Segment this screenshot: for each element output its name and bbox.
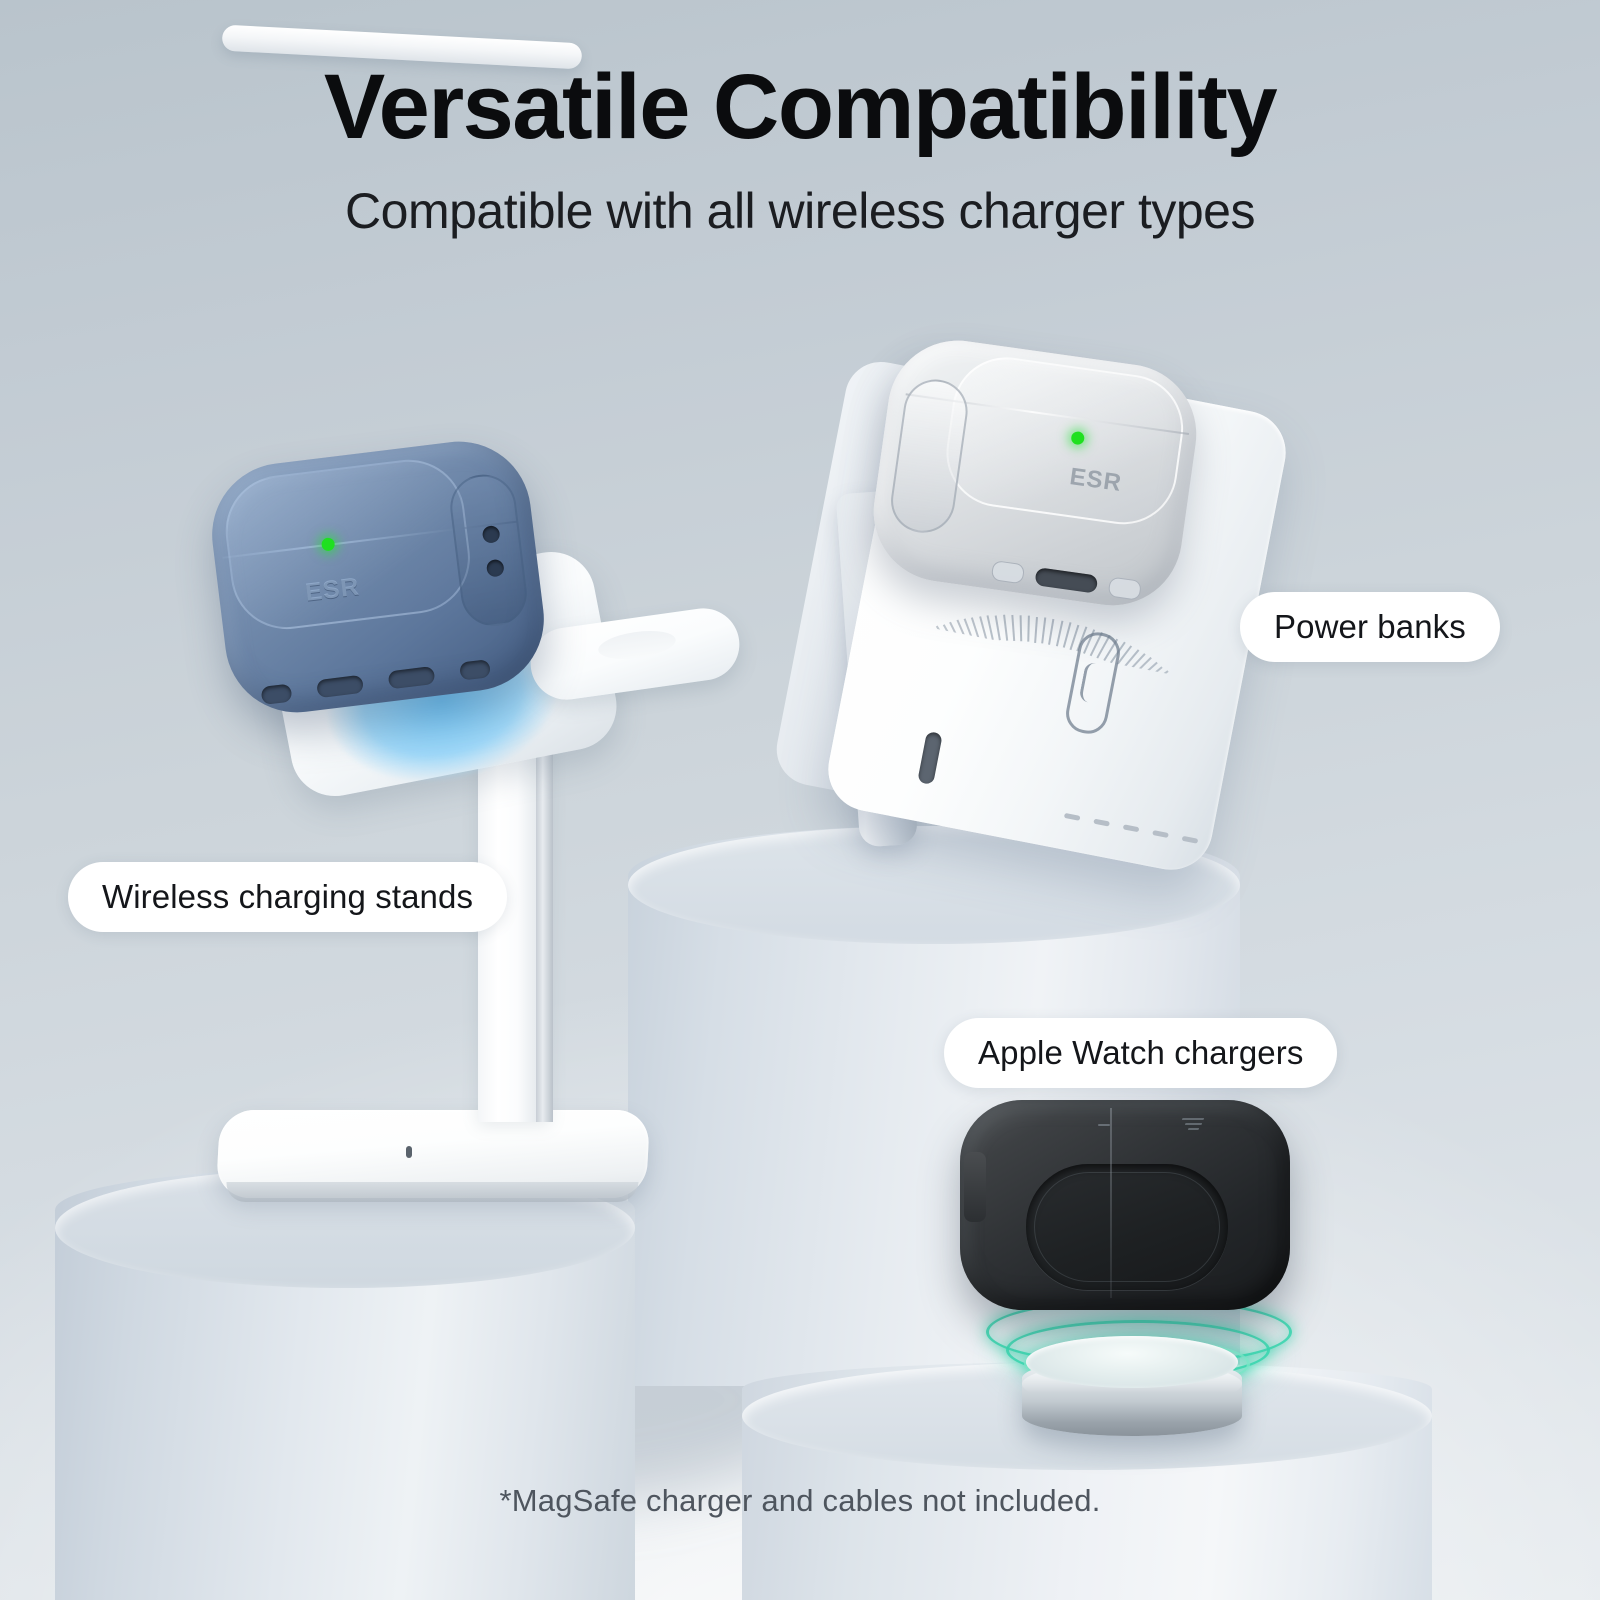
coil-line <box>1034 617 1038 643</box>
product-marketing-image: Versatile Compatibility Compatible with … <box>0 0 1600 1600</box>
coil-line <box>987 616 994 641</box>
coil-line <box>979 616 987 641</box>
wireless-charging-icon <box>1182 1118 1204 1132</box>
podium-left <box>55 1168 635 1600</box>
coil-line <box>1011 615 1015 641</box>
coil-line <box>1056 621 1064 647</box>
stand-base-rim <box>225 1182 638 1202</box>
page-subtitle: Compatible with all wireless charger typ… <box>0 182 1600 240</box>
case-blue-lid <box>219 453 476 635</box>
coil-line <box>1019 615 1022 641</box>
case-black-dash-mark <box>1098 1124 1110 1126</box>
case-black-seam <box>1110 1108 1112 1298</box>
label-wireless-charging-stands: Wireless charging stands <box>68 862 507 932</box>
airpods-case-gray: ESR <box>865 332 1206 615</box>
apple-watch-charger-puck <box>1012 1336 1252 1446</box>
label-power-banks: Power banks <box>1240 592 1500 662</box>
label-apple-watch-chargers: Apple Watch chargers <box>944 1018 1337 1088</box>
case-black-charging-recess <box>1026 1164 1228 1290</box>
stand-indicator-dot <box>406 1146 412 1158</box>
case-gray-button-right <box>1108 576 1142 600</box>
airpods-case-black <box>960 1100 1290 1310</box>
coil-line <box>1027 616 1030 642</box>
puck-charging-surface <box>1026 1336 1238 1388</box>
page-title: Versatile Compatibility <box>0 58 1600 157</box>
grille-slot <box>388 666 436 689</box>
case-gray-button-left <box>991 560 1025 584</box>
airpods-case-blue: ESR <box>204 433 552 720</box>
grille-slot <box>459 659 491 681</box>
usb-c-port-icon <box>1034 567 1098 593</box>
disclaimer-footnote: *MagSafe charger and cables not included… <box>0 1483 1600 1519</box>
coil-line <box>1003 615 1008 641</box>
coil-line <box>995 615 1001 640</box>
case-black-side-tab <box>964 1152 986 1222</box>
grille-slot <box>316 675 364 698</box>
grille-slot <box>261 683 293 705</box>
coil-line <box>1041 618 1046 644</box>
coil-line <box>1048 619 1054 645</box>
stand-post-metal-strip <box>536 702 553 1122</box>
